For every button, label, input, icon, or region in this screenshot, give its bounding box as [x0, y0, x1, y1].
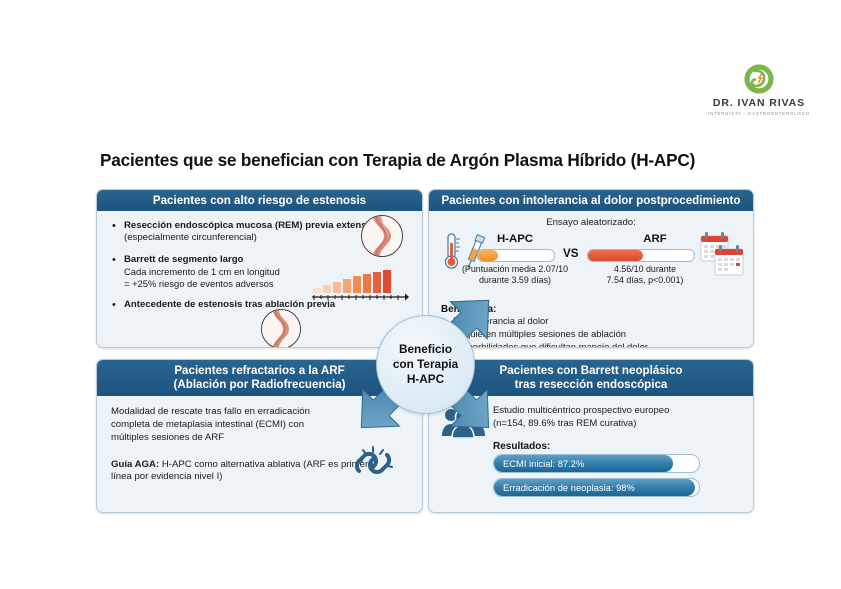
vs-label: VS	[563, 247, 578, 260]
logo-name: DR. IVAN RIVAS	[713, 97, 805, 109]
progress-bar-ecmi-label: ECMI inicial: 87.2%	[503, 455, 584, 472]
panel-header-top-left: Pacientes con alto riesgo de estenosis	[97, 190, 422, 211]
panel-header-bl-line1: Pacientes refractarios a la ARF	[174, 364, 346, 378]
hub-line-3: H-APC	[393, 372, 458, 387]
panel-header-bl-line2: (Ablación por Radiofrecuencia)	[174, 378, 346, 392]
arm-arf-caption-2: 7.54 días, p<0.001)	[607, 275, 684, 285]
guide-label: Guía AGA:	[111, 459, 159, 470]
stomach-logo-icon	[742, 62, 776, 96]
pain-bar-arf	[587, 249, 695, 262]
pain-bar-hapc-fill	[478, 250, 498, 261]
progress-bar-ecmi: ECMI inicial: 87.2%	[493, 454, 700, 473]
progress-bar-neoplasia-label: Erradicación de neoplasia: 98%	[503, 479, 635, 496]
study-description: Estudio multicéntrico prospectivo europe…	[493, 405, 733, 430]
logo-subtitle: INTERNISTA - GASTROENTERÓLOGO	[708, 111, 810, 116]
arm-label-hapc: H-APC	[477, 233, 553, 245]
esophagus-stenosis-icon-2	[261, 309, 301, 348]
bullet-1-rest: (especialmente circunferencial)	[124, 232, 257, 243]
arm-arf-caption-1: 4.56/10 durante	[614, 264, 676, 274]
trial-label: Ensayo aleatorizado:	[429, 217, 753, 228]
study-line-1: Estudio multicéntrico prospectivo europe…	[493, 405, 733, 418]
page-title: Pacientes que se benefician con Terapia …	[100, 150, 750, 171]
pain-bar-hapc	[477, 249, 555, 262]
hub-line-1: Beneficio	[393, 342, 458, 357]
bullet-3-bold: Antecedente de estenosis tras ablación p…	[124, 299, 335, 310]
pain-bar-arf-fill	[588, 250, 643, 261]
study-line-2: (n=154, 89.6% tras REM curativa)	[493, 418, 733, 431]
center-hub: Beneficio con Terapia H-APC	[376, 315, 475, 414]
brand-logo: DR. IVAN RIVAS INTERNISTA - GASTROENTERÓ…	[706, 62, 812, 118]
calendar-icon	[699, 230, 745, 278]
rescue-paragraph: Modalidad de rescate tras fallo en errad…	[111, 406, 311, 445]
arm-label-arf: ARF	[617, 233, 693, 245]
hub-line-2: con Terapia	[393, 357, 458, 372]
infographic-canvas: DR. IVAN RIVAS INTERNISTA - GASTROENTERÓ…	[0, 0, 841, 589]
bullet-1-bold: Resección endoscópica mucosa (REM) previ…	[124, 220, 372, 231]
panel-header-br-line1: Pacientes con Barrett neoplásico	[500, 364, 683, 378]
esophagus-stenosis-icon	[361, 215, 403, 257]
progress-bar-neoplasia: Erradicación de neoplasia: 98%	[493, 478, 700, 497]
panel-header-br-line2: tras resección endoscópica	[500, 378, 683, 392]
bullet-2-bold: Barrett de segmento largo	[124, 254, 243, 265]
panel-header-top-right: Pacientes con intolerancia al dolor post…	[429, 190, 753, 211]
